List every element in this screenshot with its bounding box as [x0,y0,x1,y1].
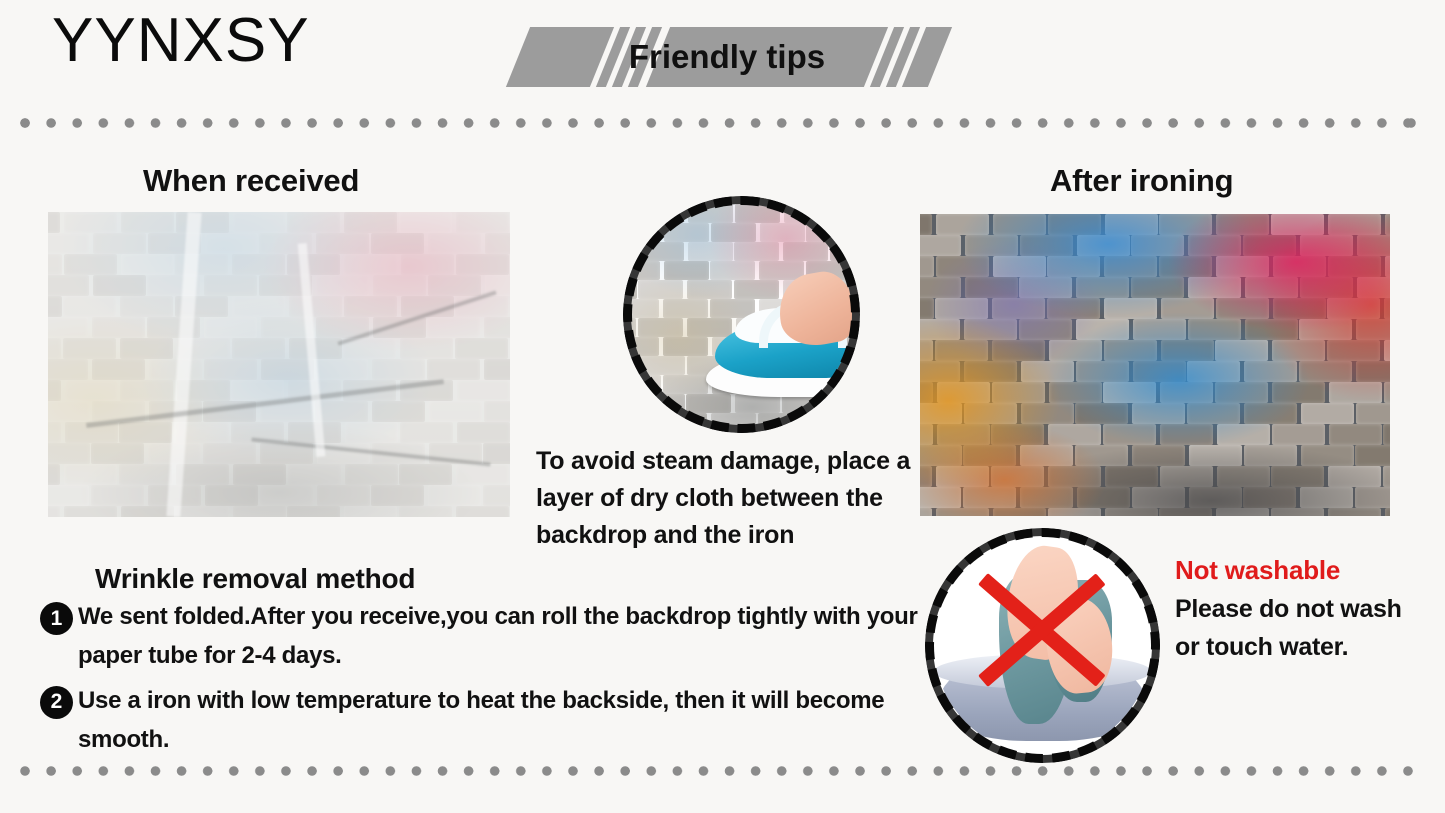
photo-backdrop-when-received [48,212,510,517]
frame-right-edge [1406,118,1416,776]
tips-page: YYNXSY Friendly tips When received After… [0,0,1445,813]
red-x-icon [969,563,1117,698]
step-number-badge: 2 [40,686,73,719]
photo-backdrop-after-ironing [920,214,1390,516]
section-title-after-ironing: After ironing [1050,163,1233,199]
banner-title: Friendly tips [512,27,942,87]
no-wash-text-block: Not washable Please do not wash or touch… [1175,555,1405,666]
section-title-when-received: When received [143,163,359,199]
wrinkle-method-title: Wrinkle removal method [95,563,415,595]
faded-overlay [48,212,510,517]
not-washable-title: Not washable [1175,555,1405,586]
list-item: 2 Use a iron with low temperature to hea… [40,682,920,760]
frame-bottom-edge [20,766,1416,776]
color-overlay [920,214,1390,516]
not-washable-description: Please do not wash or touch water. [1175,590,1405,666]
no-wash-badge [925,528,1160,763]
friendly-tips-banner: Friendly tips [512,27,942,87]
step-number-badge: 1 [40,602,73,635]
list-item: 1 We sent folded.After you receive,you c… [40,598,920,676]
frame-left-edge [20,118,30,776]
iron-illustration-badge [623,196,860,433]
brand-logo: YYNXSY [52,10,310,72]
step-text: Use a iron with low temperature to heat … [78,682,920,760]
frame-top-edge [20,118,1416,128]
steam-damage-note: To avoid steam damage, place a layer of … [536,443,928,554]
wrinkle-method-steps: 1 We sent folded.After you receive,you c… [40,598,920,766]
badge-dashed-ring [623,196,860,433]
step-text: We sent folded.After you receive,you can… [78,598,920,676]
